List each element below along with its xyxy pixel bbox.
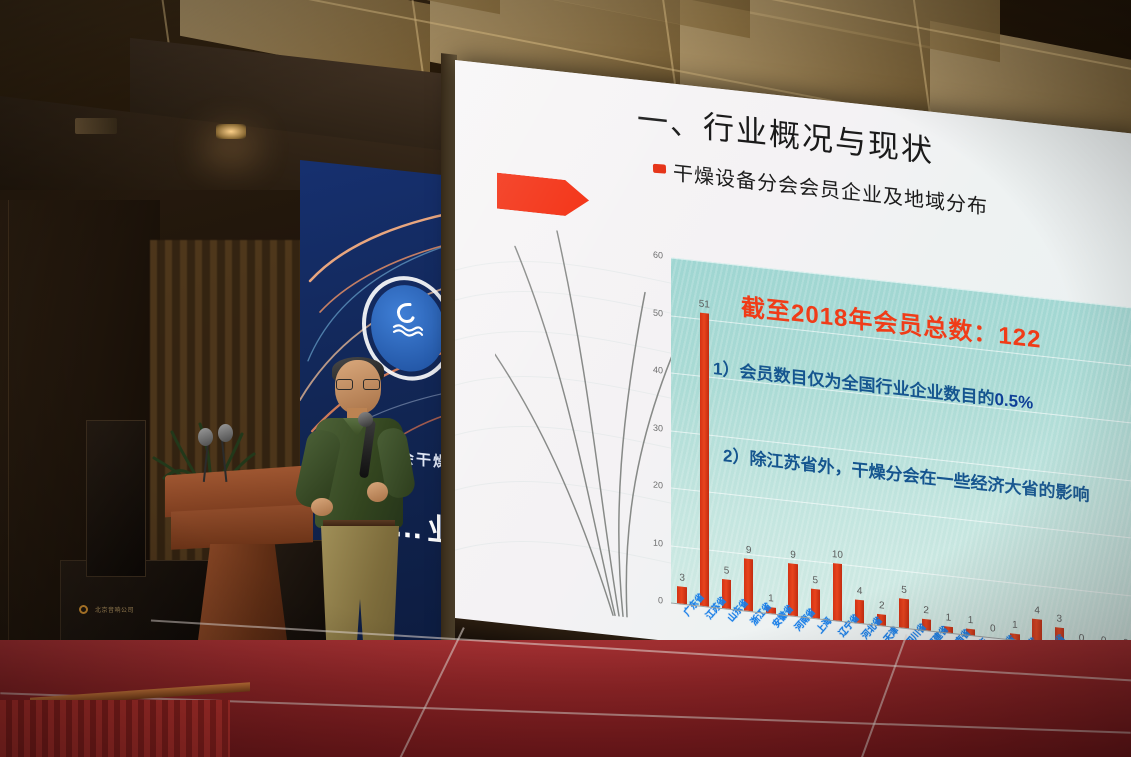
- chart-y-tick: 40: [641, 363, 663, 375]
- speaker-badge-label: 北京音响公司: [95, 605, 134, 614]
- red-square-bullet-icon: [653, 164, 666, 174]
- chart-bar: [700, 312, 709, 606]
- chart-y-tick: 50: [641, 306, 663, 318]
- projection-screen-assembly: 一、行业概况与现状 干燥设备分会会员企业及地域分布 0102030405060 …: [455, 60, 1131, 710]
- speaker-stack-left: [86, 420, 146, 577]
- chart-bar: [899, 599, 908, 629]
- chart-y-tick: 10: [641, 536, 663, 548]
- chart-y-tick: 0: [641, 593, 663, 605]
- note1-percent: 0.5%: [994, 390, 1033, 413]
- presenter-hand-left: [311, 498, 333, 516]
- presenter-hand-right: [367, 482, 388, 502]
- chart-y-tick: 30: [641, 421, 663, 433]
- stage-skirt: [0, 700, 230, 757]
- emblem-glyph: [388, 296, 428, 340]
- chart-y-tick: 60: [641, 248, 663, 260]
- lectern-panel: [171, 504, 313, 549]
- microphone-head-right: [218, 424, 233, 442]
- ceiling-downlight: [216, 124, 246, 139]
- chart-bar: [833, 563, 842, 622]
- eyeglasses-icon: [336, 379, 380, 390]
- ceiling-vent: [75, 118, 117, 134]
- conference-photo-scene: …业协会干燥设备分会 …业年会: [0, 0, 1131, 757]
- handheld-microphone-head: [358, 412, 373, 427]
- chart-y-tick: 20: [641, 478, 663, 490]
- microphone-head-left: [198, 428, 213, 446]
